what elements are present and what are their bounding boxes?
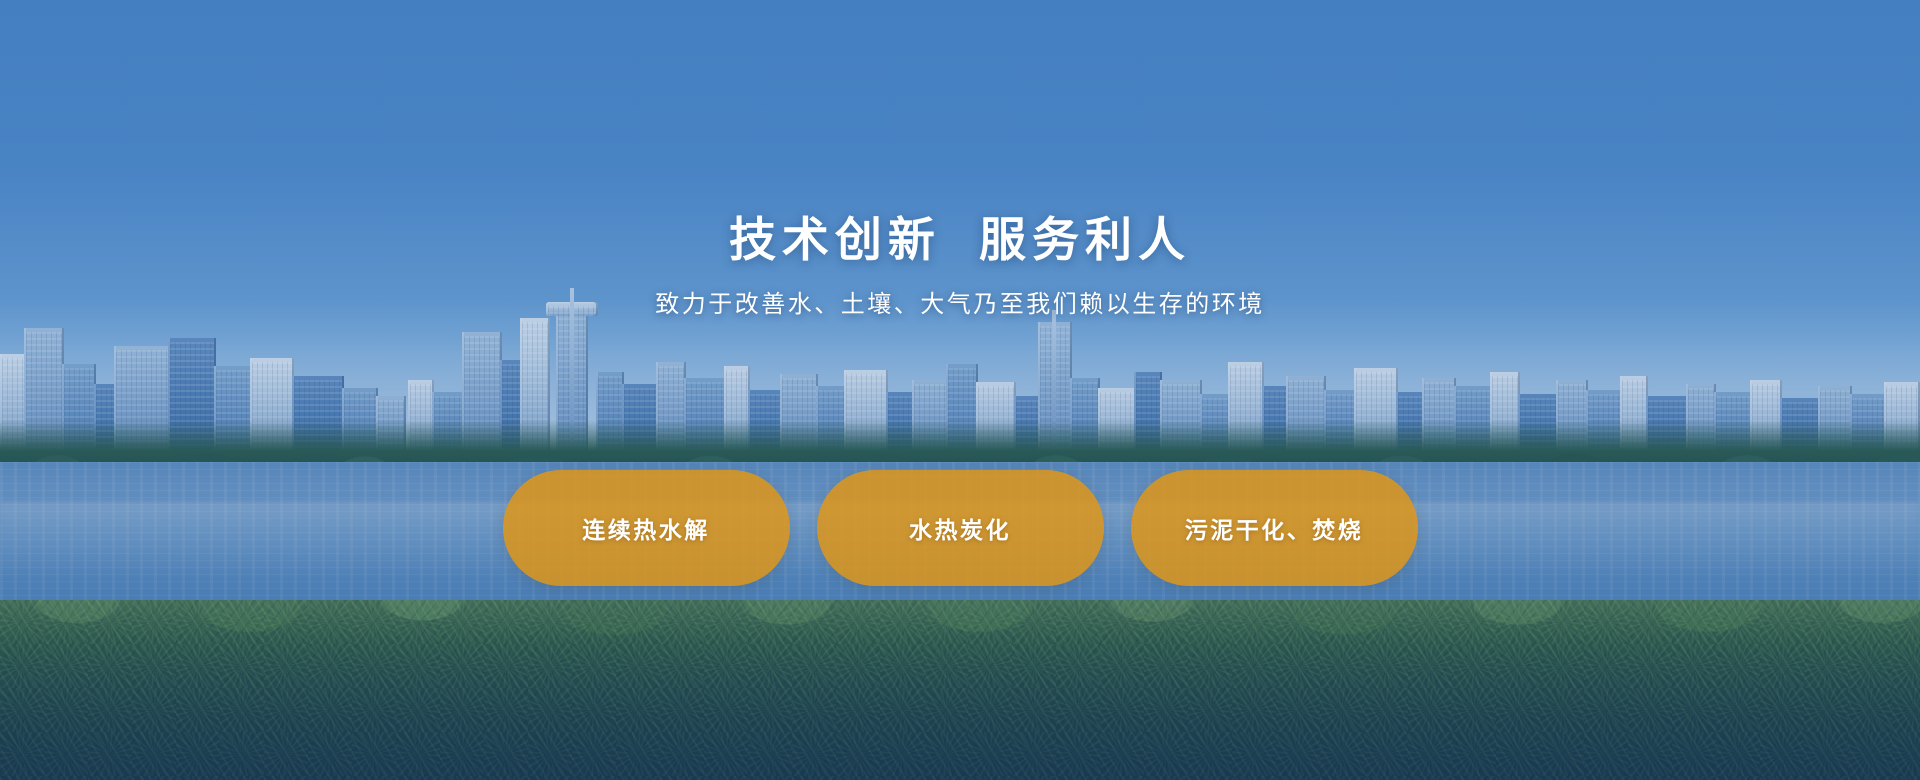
pill-button-hydrothermal-carbonization[interactable]: 水热炭化	[817, 470, 1104, 586]
page-title: 技术创新 服务利人	[0, 213, 1920, 267]
service-pill-group: 连续热水解 水热炭化 污泥干化、焚烧	[0, 470, 1920, 586]
pill-label: 连续热水解	[582, 511, 710, 545]
hero-banner: 技术创新 服务利人 致力于改善水、土壤、大气乃至我们赖以生存的环境 连续热水解 …	[0, 0, 1920, 780]
foreground-mangrove	[0, 600, 1920, 780]
pill-label: 污泥干化、焚烧	[1185, 511, 1364, 545]
hero-subtitle: 致力于改善水、土壤、大气乃至我们赖以生存的环境	[0, 288, 1920, 322]
pill-button-sludge-drying-incineration[interactable]: 污泥干化、焚烧	[1131, 470, 1418, 586]
foliage-shading	[0, 600, 1920, 780]
hero-copy: 技术创新 服务利人 致力于改善水、土壤、大气乃至我们赖以生存的环境	[0, 213, 1920, 322]
pill-button-continuous-thermal-hydrolysis[interactable]: 连续热水解	[503, 470, 790, 586]
pill-label: 水热炭化	[909, 511, 1011, 545]
